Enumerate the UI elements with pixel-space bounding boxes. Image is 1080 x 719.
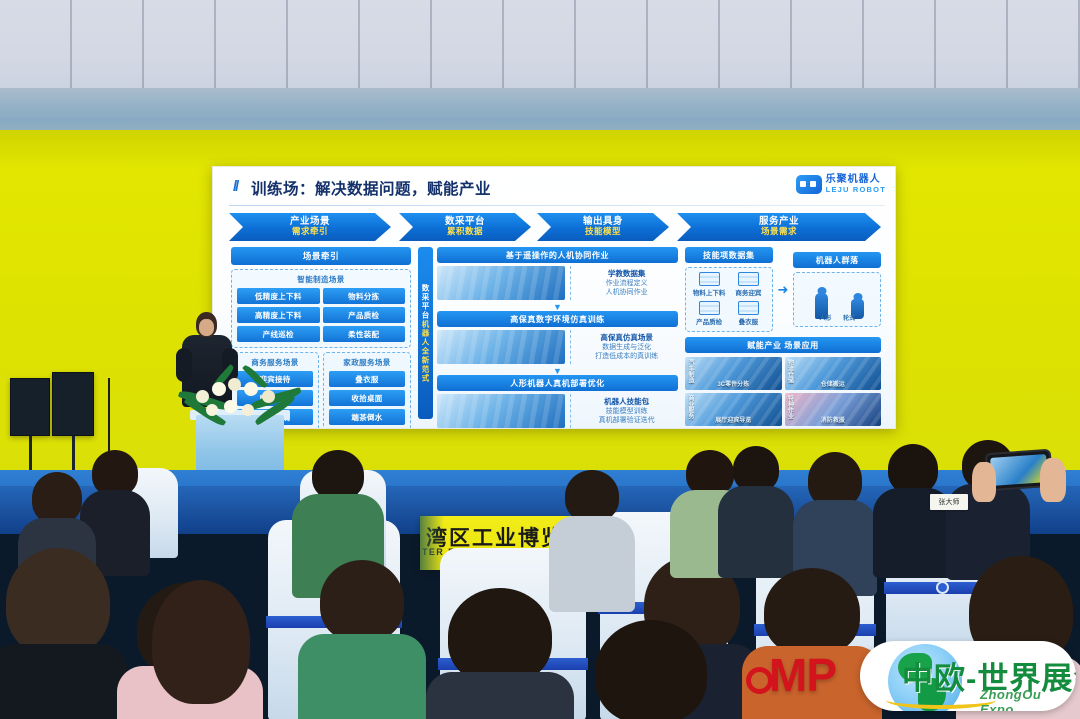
person-hair: [320, 560, 404, 642]
leju-logo: 乐聚机器人 LEJU ROBOT: [796, 175, 886, 194]
application-cell: 商业服务 展厅迎宾导览: [685, 393, 782, 426]
robot-fleet-card: 机器人群落 人形 轮式: [793, 252, 881, 327]
process-arrow-1: 产业场景 需求牵引: [229, 213, 391, 241]
person-torso: [549, 516, 635, 612]
vtab-head: 数采平台: [420, 284, 431, 320]
logo-text: 乐聚机器人 LEJU ROBOT: [826, 175, 886, 194]
application-cell: 特种作业 消防救援: [785, 393, 882, 426]
process-arrow-2: 数采平台 累积数据: [399, 213, 531, 241]
smart-manufacturing-chips: 低精度上下料 物料分拣 高精度上下料 产品质检 产线巡检 柔性装配: [237, 288, 405, 342]
mid-row-body: 高保真仿真场景 数据生成与泛化 打造低成本的真训练: [437, 330, 678, 364]
arrow-1-line2: 需求牵引: [292, 227, 328, 236]
robot-label-2: 轮式: [843, 316, 855, 322]
right-top-row: 技能项数据集 物料上下料 商务迎宾 产品质检 叠衣服 ➜ 机器人群落: [685, 247, 881, 332]
projection-screen: // 训练场：解决数据问题，赋能产业 乐聚机器人 LEJU ROBOT 产业场景…: [212, 166, 896, 429]
chip: 产线巡检: [237, 326, 320, 342]
mid-row: 高保真数字环境仿真训练 高保真仿真场景 数据生成与泛化 打造低成本的真训练: [437, 311, 678, 364]
skill-item: 物料上下料: [691, 272, 727, 297]
cell-vertical-label: 特种作业: [786, 395, 795, 419]
chair-sash-knot: [936, 581, 949, 594]
vtab-tail: 机器人全新范式: [420, 320, 431, 383]
robot-labels: 人形 轮式: [799, 313, 875, 322]
home-service-label: 家政服务场景: [329, 357, 405, 368]
mid-text-main: 机器人技能包: [575, 397, 678, 407]
title-divider: [229, 205, 885, 206]
transition-arrow-icon: ➜: [778, 282, 789, 298]
flower-bloom: [262, 390, 275, 403]
zhongou-expo-logo: 中欧-世界展会 ZhongOu Expo: [860, 641, 1076, 711]
skill-label: 商务迎宾: [730, 287, 766, 297]
mid-row-body: 学教数据集 作业流程定义 人机协同作业: [437, 266, 678, 300]
audience-member: [146, 580, 256, 719]
gear-icon: [746, 667, 773, 694]
mid-text-sub: 作业流程定义 人机协同作业: [575, 279, 678, 298]
mid-row-text: 学教数据集 作业流程定义 人机协同作业: [570, 266, 678, 300]
flow-down-arrow-icon: ▼: [437, 368, 678, 375]
audience-member: [306, 560, 418, 719]
flower-bloom: [196, 390, 209, 403]
arrow-3-line2: 技能模型: [585, 227, 621, 236]
mid-row: 基于遥操作的人机协同作业 学教数据集 作业流程定义 人机协同作业: [437, 247, 678, 300]
flower-bloom: [228, 378, 241, 391]
cell-bottom-label: 消防救援: [785, 415, 882, 424]
application-cell: 汽车制造 3C零件分拣: [685, 357, 782, 390]
home-service-chips: 叠衣服 收拾桌面 端茶倒水: [329, 371, 405, 425]
mid-row-body: 机器人技能包 技能模型训练 真机部署验证迭代: [437, 394, 678, 428]
audience-member: [556, 470, 628, 590]
process-arrow-row: 产业场景 需求牵引 数采平台 累积数据 输出具身 技能模型 服务产业 场景需求: [229, 213, 881, 243]
mid-row-text: 机器人技能包 技能模型训练 真机部署验证迭代: [570, 394, 678, 428]
left-header-pill: 场景牵引: [231, 247, 411, 265]
robot-logo-icon: [796, 175, 822, 194]
arrow-4-line2: 场景需求: [761, 227, 797, 236]
column-data-platform: 数采平台机器人全新范式 基于遥操作的人机协同作业 学教数据集 作业流程定义 人机…: [418, 247, 678, 419]
zhongou-english: ZhongOu Expo: [980, 687, 1076, 711]
mid-text-sub: 数据生成与泛化 打造低成本的真训练: [575, 343, 678, 362]
flower-bloom: [212, 382, 226, 396]
robot-label-1: 人形: [819, 316, 831, 322]
chip: 物料分拣: [323, 288, 406, 304]
flower-bloom: [242, 404, 254, 416]
vertical-tab-data-platform: 数采平台机器人全新范式: [418, 247, 433, 419]
mid-row: 人形机器人真机部署优化 机器人技能包 技能模型训练 真机部署验证迭代: [437, 375, 678, 428]
pa-speaker-right: [52, 372, 94, 436]
cell-bottom-label: 展厅迎宾导览: [685, 415, 782, 424]
arrow-2-line2: 累积数据: [447, 227, 483, 236]
cell-bottom-label: 3C零件分拣: [685, 379, 782, 388]
person-torso: [0, 644, 127, 719]
presentation-slide: // 训练场：解决数据问题，赋能产业 乐聚机器人 LEJU ROBOT 产业场景…: [213, 167, 895, 428]
chip: 高精度上下料: [237, 307, 320, 323]
dmp-text: MP: [769, 649, 836, 701]
skills-dataset-card: 技能项数据集 物料上下料 商务迎宾 产品质检 叠衣服: [685, 247, 773, 332]
chip: 柔性装配: [323, 326, 406, 342]
mid-row-title: 高保真数字环境仿真训练: [437, 311, 678, 327]
logo-chinese: 乐聚机器人: [826, 175, 886, 185]
audience-member: [300, 450, 376, 578]
process-arrow-4: 服务产业 场景需求: [677, 213, 881, 241]
name-card: 张大师: [930, 494, 968, 510]
skills-dataset-header: 技能项数据集: [685, 247, 773, 263]
audience-member: [800, 452, 870, 570]
cell-vertical-label: 商业服务: [686, 395, 695, 419]
hand-holding-phone-right: [1040, 458, 1066, 502]
person-hair: [448, 588, 552, 684]
mid-text-main: 学教数据集: [575, 269, 678, 279]
cell-vertical-label: 汽车制造: [686, 359, 695, 383]
mid-rows: 基于遥操作的人机协同作业 学教数据集 作业流程定义 人机协同作业 ▼ 高保真数字…: [437, 247, 678, 419]
dataset-stack-icon: [699, 301, 720, 315]
teleoperation-photo: [437, 266, 565, 300]
cell-vertical-label: 物流仓储: [786, 359, 795, 383]
person-hair: [152, 580, 250, 704]
audience-member: [438, 588, 562, 719]
backdrop-shadow: [0, 130, 1080, 170]
chip: 端茶倒水: [329, 409, 405, 425]
screenshot-root: // 训练场：解决数据问题，赋能产业 乐聚机器人 LEJU ROBOT 产业场景…: [0, 0, 1080, 719]
application-photo-grid: 汽车制造 3C零件分拣 物流仓储 仓储搬运 商业服务 展厅迎宾导览 特种作业 消…: [685, 357, 881, 426]
mid-row-title: 人形机器人真机部署优化: [437, 375, 678, 391]
logo-english: LEJU ROBOT: [826, 186, 886, 194]
skill-label: 叠衣服: [730, 316, 766, 326]
person-hair: [32, 472, 82, 524]
person-torso: [298, 634, 426, 719]
skills-dataset-box: 物料上下料 商务迎宾 产品质检 叠衣服: [685, 267, 773, 332]
flower-bloom: [224, 400, 237, 413]
process-arrow-3: 输出具身 技能模型: [537, 213, 669, 241]
home-service-group: 家政服务场景 叠衣服 收拾桌面 端茶倒水: [323, 352, 411, 428]
audience-member: [588, 620, 714, 719]
person-torso: [718, 486, 794, 578]
mid-text-sub: 技能模型训练 真机部署验证迭代: [575, 407, 678, 426]
right-footer-pill: 赋能产业 场景应用: [685, 337, 881, 353]
flow-down-arrow-icon: ▼: [437, 304, 678, 311]
flower-bloom: [206, 404, 218, 416]
audience-member: [724, 446, 788, 558]
dmp-logo-watermark: MP: [748, 648, 836, 702]
skill-label: 物料上下料: [691, 287, 727, 297]
column-service-industry: 技能项数据集 物料上下料 商务迎宾 产品质检 叠衣服 ➜ 机器人群落: [685, 247, 881, 419]
person-hair: [595, 620, 707, 719]
robot-fleet-header: 机器人群落: [793, 252, 881, 268]
pa-speaker-left: [10, 378, 50, 436]
chip: 低精度上下料: [237, 288, 320, 304]
flower-arrangement: [178, 368, 302, 430]
application-cell: 物流仓储 仓储搬运: [785, 357, 882, 390]
chip: 收拾桌面: [329, 390, 405, 406]
mid-row-title: 基于遥操作的人机协同作业: [437, 247, 678, 263]
presenter-face: [199, 319, 214, 336]
title-slash-icon: //: [233, 178, 237, 195]
person-hair: [6, 548, 110, 656]
smart-manufacturing-group: 智能制造场景 低精度上下料 物料分拣 高精度上下料 产品质检 产线巡检 柔性装配: [231, 269, 411, 348]
flower-bloom: [244, 382, 258, 396]
mid-text-main: 高保真仿真场景: [575, 333, 678, 343]
dataset-stack-icon: [738, 301, 759, 315]
person-hair: [312, 450, 364, 500]
mid-row-text: 高保真仿真场景 数据生成与泛化 打造低成本的真训练: [570, 330, 678, 364]
cell-bottom-label: 仓储搬运: [785, 379, 882, 388]
skill-label: 产品质检: [691, 316, 727, 326]
person-hair: [565, 470, 619, 522]
slide-title: 训练场：解决数据问题，赋能产业: [251, 177, 491, 199]
chip: 叠衣服: [329, 371, 405, 387]
hand-holding-phone-left: [972, 462, 996, 502]
skill-item: 叠衣服: [730, 301, 766, 326]
dataset-stack-icon: [699, 272, 720, 286]
dataset-stack-icon: [738, 272, 759, 286]
simulation-photo: [437, 330, 565, 364]
chip: 产品质检: [323, 307, 406, 323]
person-hair: [888, 444, 938, 494]
robot-fleet-box: 人形 轮式: [793, 272, 881, 327]
person-torso: [426, 672, 574, 719]
deployment-photo: [437, 394, 565, 428]
smart-manufacturing-label: 智能制造场景: [237, 274, 405, 285]
robot-illustrations: 人形 轮式: [799, 277, 875, 321]
person-hair: [764, 568, 860, 656]
skill-item: 产品质检: [691, 301, 727, 326]
skills-icon-grid: 物料上下料 商务迎宾 产品质检 叠衣服: [691, 272, 767, 326]
skill-item: 商务迎宾: [730, 272, 766, 297]
audience-member: [0, 548, 116, 719]
